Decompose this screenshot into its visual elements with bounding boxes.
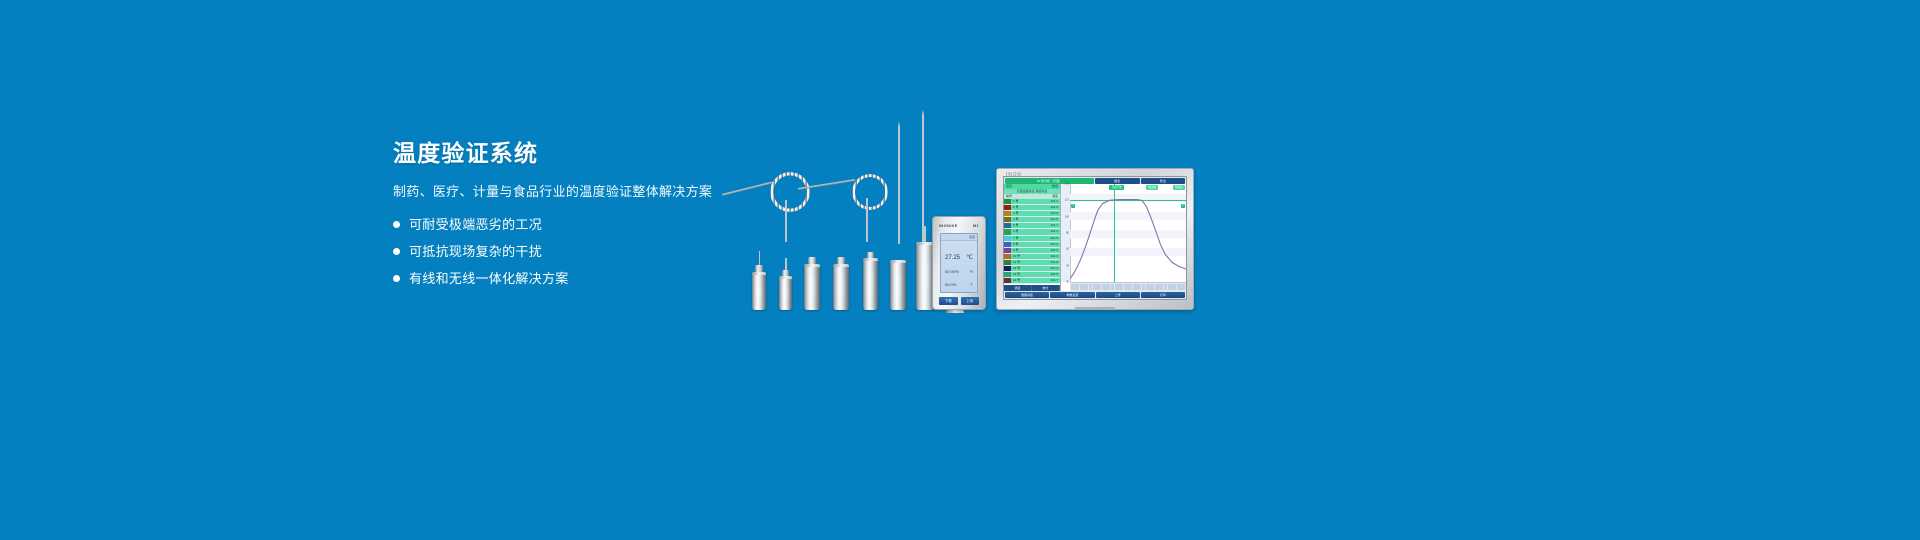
marker-cool: 降温段	[1173, 185, 1185, 190]
chart-x-axis	[1070, 282, 1186, 291]
channel-color-swatch	[1004, 199, 1011, 204]
handheld-reading-value: 27.25	[945, 255, 960, 261]
probe-wire	[759, 251, 761, 265]
probe-wire	[785, 258, 787, 270]
probe-wire	[924, 226, 926, 242]
chart-y-tick: 121	[1065, 198, 1069, 201]
data-logger-1	[752, 272, 766, 310]
toolbar-print-button[interactable]: 打印	[1141, 292, 1185, 298]
channel-color-swatch	[1004, 229, 1011, 234]
software-toolbar: 数据采集 参数设置 上传 打印	[1004, 291, 1186, 299]
table-cell: 5 号121.7	[1011, 223, 1060, 228]
toolbar-upload-button[interactable]: 上传	[1096, 292, 1140, 298]
chart-x-tick	[1084, 284, 1088, 290]
chart-x-tick	[1097, 284, 1101, 290]
channel-name: 12 号	[1013, 266, 1020, 271]
handheld-reader[interactable]: INGNIKE M1 读取 27.25 ℃ 00.00% R 00.0% T	[932, 216, 986, 310]
channel-name: 2 号	[1013, 205, 1019, 210]
chart-y-tick: 20	[1066, 281, 1069, 284]
probe-wire-arm	[722, 181, 773, 195]
chart-x-tick	[1119, 284, 1123, 290]
handheld-reading-unit: ℃	[966, 255, 973, 261]
channel-value: 121.4	[1050, 199, 1058, 204]
chart-x-tick	[1124, 284, 1128, 290]
channel-color-swatch	[1004, 211, 1011, 216]
chart-plot-area: 灭菌开始 保温段 降温段 1 2	[1070, 184, 1186, 282]
chart-x-tick	[1075, 284, 1079, 290]
chart-x-tick	[1168, 284, 1172, 290]
chart-y-tick: 140	[1065, 183, 1069, 186]
chart-y-tick: 80	[1066, 232, 1069, 235]
table-cell: 3 号121.3	[1011, 211, 1060, 216]
data-logger-2	[779, 276, 792, 310]
chart-x-tick	[1111, 284, 1115, 290]
probe-wire	[785, 200, 787, 242]
chart-x-tick	[1164, 284, 1168, 290]
table-cell: 14 号121.7	[1011, 278, 1060, 283]
logger-label	[893, 275, 903, 294]
channel-color-swatch	[1004, 254, 1011, 259]
chart-y-tick: 100	[1065, 215, 1069, 218]
handheld-reading-value: 00.0%	[945, 283, 956, 287]
channel-value: 121.6	[1050, 248, 1058, 253]
logger-cap	[782, 270, 789, 276]
logger-label	[836, 278, 846, 295]
handheld-reading-row: 00.00% R	[941, 270, 977, 274]
table-cell: 12 号121.4	[1011, 266, 1060, 271]
channel-color-swatch	[1004, 236, 1011, 241]
handheld-brand: INGNIKE	[939, 223, 958, 228]
channel-name: 9 号	[1013, 248, 1019, 253]
channel-value: 121.4	[1050, 229, 1058, 234]
chart-x-tick	[1133, 284, 1137, 290]
channel-table: 通道 数值 灭菌温度验证 通道列表 编号 温度 1 号121.42 号121.5…	[1004, 184, 1061, 291]
handheld-upload-button[interactable]: 上传	[961, 297, 980, 305]
marker-handle-right[interactable]: 2	[1181, 204, 1185, 208]
product-group-image: INGNIKE M1 读取 27.25 ℃ 00.00% R 00.0% T	[700, 110, 1220, 310]
marker-hold: 保温段	[1146, 185, 1158, 190]
logger-cap	[755, 265, 763, 272]
channel-color-swatch	[1004, 223, 1011, 228]
channel-value: 121.2	[1050, 242, 1058, 247]
chart-x-tick	[1181, 284, 1185, 290]
channel-color-swatch	[1004, 266, 1011, 271]
temperature-curve	[1070, 184, 1186, 282]
chart-x-tick	[1102, 284, 1106, 290]
marker-handle-left[interactable]: 1	[1071, 204, 1075, 208]
needle-probe	[922, 110, 924, 244]
channel-name: 3 号	[1013, 211, 1019, 216]
chart-x-tick	[1155, 284, 1159, 290]
channel-name: 4 号	[1013, 217, 1019, 222]
channel-color-swatch	[1004, 272, 1011, 277]
table-cell: 4 号121.6	[1011, 217, 1060, 222]
logger-label	[781, 286, 789, 299]
chart-x-tick	[1089, 284, 1093, 290]
data-logger-6	[890, 260, 906, 310]
chart-x-tick	[1128, 284, 1132, 290]
chart-x-tick	[1177, 284, 1181, 290]
chart-y-tick: 40	[1066, 264, 1069, 267]
logger-label	[919, 262, 931, 288]
channel-name: 13 号	[1013, 272, 1020, 277]
coiled-probe-icon	[852, 174, 888, 210]
logger-label	[866, 274, 876, 294]
channel-color-swatch	[1004, 248, 1011, 253]
table-body: 1 号121.42 号121.53 号121.34 号121.65 号121.7…	[1004, 199, 1060, 285]
handheld-reading-unit: T	[971, 283, 973, 287]
handheld-reading-row: 27.25 ℃	[941, 255, 977, 261]
channel-value: 121.3	[1050, 254, 1058, 259]
handheld-screen-title: 读取	[941, 234, 977, 241]
channel-color-swatch	[1004, 242, 1011, 247]
logger-cap	[808, 257, 816, 264]
needle-probe	[898, 122, 900, 244]
handheld-screen: 读取 27.25 ℃ 00.00% R 00.0% T	[940, 233, 978, 293]
data-logger-5	[863, 258, 878, 310]
handheld-brand-row: INGNIKE M1	[939, 223, 979, 228]
channel-color-swatch	[1004, 278, 1011, 283]
chart-x-tick	[1159, 284, 1163, 290]
toolbar-settings-button[interactable]: 参数设置	[1050, 292, 1094, 298]
table-cell: 8 号121.2	[1011, 242, 1060, 247]
channel-value: 121.5	[1050, 272, 1058, 277]
bullet-label: 可抵抗现场复杂的干扰	[409, 245, 542, 258]
chart-x-tick	[1142, 284, 1146, 290]
channel-color-swatch	[1004, 260, 1011, 265]
channel-value: 121.5	[1050, 236, 1058, 241]
logger-cap	[837, 257, 845, 264]
channel-value: 121.4	[1050, 266, 1058, 271]
toolbar-collect-button[interactable]: 数据采集	[1005, 292, 1049, 298]
table-cell: 2 号121.5	[1011, 205, 1060, 210]
bullet-label: 可耐受极端恶劣的工况	[409, 218, 542, 231]
channel-name: 7 号	[1013, 236, 1019, 241]
hero-banner: 温度验证系统 制药、医疗、计量与食品行业的温度验证整体解决方案 可耐受极端恶劣的…	[0, 0, 1920, 540]
marker-start: 灭菌开始	[1109, 185, 1123, 190]
table-cell: 9 号121.6	[1011, 248, 1060, 253]
chart-x-tick	[1115, 284, 1119, 290]
data-logger-4	[833, 264, 849, 310]
channel-name: 14 号	[1013, 278, 1020, 283]
coiled-probe-icon	[770, 172, 810, 212]
channel-value: 121.6	[1050, 217, 1058, 222]
table-cell: 13 号121.5	[1011, 272, 1060, 277]
bullet-label: 有线和无线一体化解决方案	[409, 272, 569, 285]
validation-software-monitor: INON F0 值分析（灭菌） 报表 导出 通道 数值 灭菌温度验证 通道列表	[996, 168, 1194, 310]
data-logger-3	[804, 264, 820, 310]
channel-color-swatch	[1004, 217, 1011, 222]
temperature-chart: 14012110080604020 灭菌开始	[1061, 184, 1186, 291]
handheld-reading-row: 00.0% T	[941, 283, 977, 287]
table-row: 14 号121.7	[1004, 278, 1060, 284]
bullet-dot-icon	[393, 275, 400, 282]
software-tab-bar: F0 值分析（灭菌） 报表 导出	[1004, 177, 1186, 184]
channel-name: 8 号	[1013, 242, 1019, 247]
monitor-stand	[1075, 307, 1115, 310]
chart-y-tick: 60	[1066, 248, 1069, 251]
channel-color-swatch	[1004, 205, 1011, 210]
channel-value: 121.5	[1050, 205, 1058, 210]
table-cell: 6 号121.4	[1011, 229, 1060, 234]
chart-x-tick	[1137, 284, 1141, 290]
chart-x-tick	[1080, 284, 1084, 290]
logger-cap	[867, 252, 874, 258]
handheld-model: M1	[973, 223, 979, 228]
chart-x-tick	[1106, 284, 1110, 290]
logger-label	[807, 278, 817, 295]
channel-value: 121.8	[1050, 260, 1058, 265]
logger-label	[755, 283, 764, 297]
channel-name: 11 号	[1013, 260, 1020, 265]
monitor-screen: F0 值分析（灭菌） 报表 导出 通道 数值 灭菌温度验证 通道列表 编号 温度	[1003, 176, 1187, 300]
channel-name: 5 号	[1013, 223, 1019, 228]
channel-value: 121.7	[1050, 278, 1058, 283]
channel-name: 1 号	[1013, 199, 1019, 204]
software-body: 通道 数值 灭菌温度验证 通道列表 编号 温度 1 号121.42 号121.5…	[1004, 184, 1186, 291]
chart-x-tick	[1172, 284, 1176, 290]
table-cell: 11 号121.8	[1011, 260, 1060, 265]
channel-value: 121.3	[1050, 211, 1058, 216]
chart-x-tick	[1146, 284, 1150, 290]
handheld-download-button[interactable]: 下载	[939, 297, 958, 305]
bullet-dot-icon	[393, 221, 400, 228]
chart-x-tick	[1071, 284, 1075, 290]
table-cell: 10 号121.3	[1011, 254, 1060, 259]
handheld-button-row: 下载 上传	[939, 297, 979, 305]
handheld-reading-unit: R	[970, 270, 973, 274]
chart-x-tick	[1150, 284, 1154, 290]
table-cell: 7 号121.5	[1011, 236, 1060, 241]
table-cell: 1 号121.4	[1011, 199, 1060, 204]
channel-value: 121.7	[1050, 223, 1058, 228]
handheld-reading-value: 00.00%	[945, 270, 959, 274]
probe-wire	[866, 198, 868, 242]
bullet-dot-icon	[393, 248, 400, 255]
chart-x-tick	[1093, 284, 1097, 290]
channel-name: 10 号	[1013, 254, 1020, 259]
channel-name: 6 号	[1013, 229, 1019, 234]
